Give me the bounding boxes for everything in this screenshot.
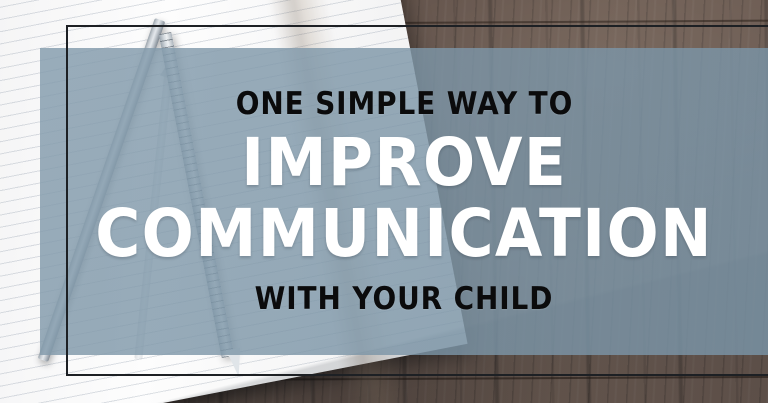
headline-emphasis-line-1: Improve — [241, 131, 567, 196]
headline-block: One Simple Way to Improve Communication … — [40, 48, 768, 355]
headline-kicker: One Simple Way to — [235, 86, 572, 122]
headline-emphasis-line-2: Communication — [95, 202, 713, 267]
title-graphic: One Simple Way to Improve Communication … — [0, 0, 768, 403]
headline-subline: With Your Child — [255, 281, 554, 317]
